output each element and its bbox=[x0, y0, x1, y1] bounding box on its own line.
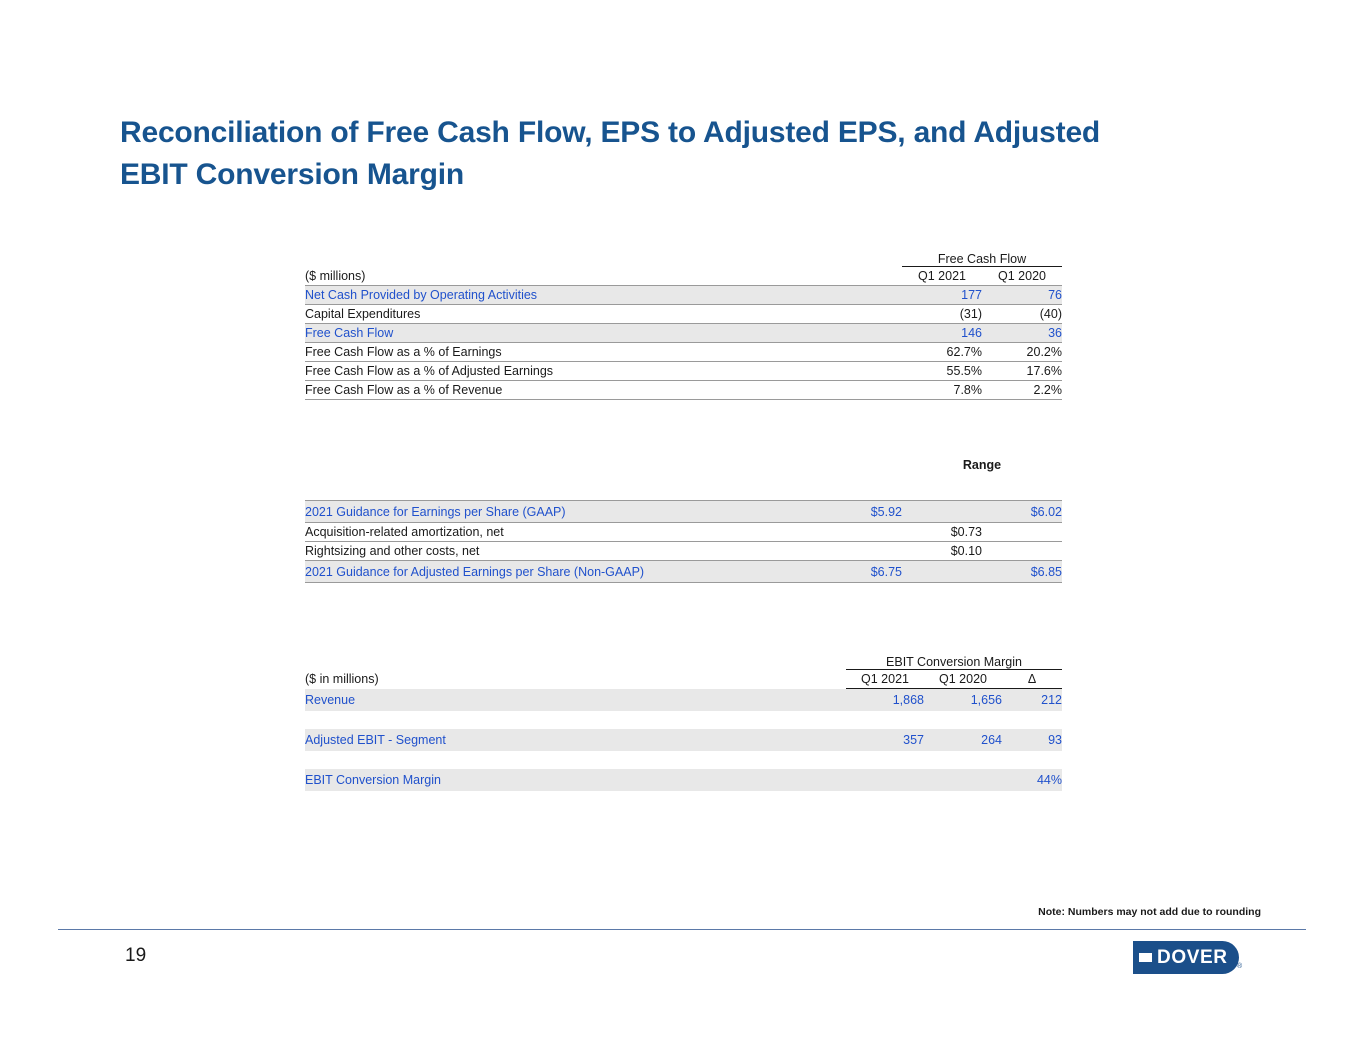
row-label: Capital Expenditures bbox=[305, 305, 902, 324]
table-row: Rightsizing and other costs, net $0.10 bbox=[305, 542, 1062, 561]
row-value-q1-2020: 76 bbox=[982, 286, 1062, 305]
dover-logo: DOVER ® bbox=[1133, 941, 1245, 974]
slide-canvas: { "slide": { "title": "Reconciliation of… bbox=[0, 0, 1365, 1055]
table-row: Free Cash Flow as a % of Earnings 62.7% … bbox=[305, 343, 1062, 362]
table-row: EBIT Conversion Margin 44% bbox=[305, 769, 1062, 791]
table-spacer-row bbox=[305, 751, 1062, 769]
group-header-range: Range bbox=[902, 458, 1062, 472]
row-value-q1-2020: 2.2% bbox=[982, 381, 1062, 400]
unit-label: ($ in millions) bbox=[305, 670, 846, 689]
row-value-q1-2021: 7.8% bbox=[902, 381, 982, 400]
column-header-q1-2020: Q1 2020 bbox=[982, 267, 1062, 286]
registered-trademark-icon: ® bbox=[1237, 963, 1242, 970]
row-value-q1-2021: 62.7% bbox=[902, 343, 982, 362]
row-value-low: $6.75 bbox=[822, 561, 902, 583]
logo-notch-icon bbox=[1139, 953, 1152, 962]
table-group-header-row: EBIT Conversion Margin bbox=[305, 655, 1062, 670]
row-value-q1-2020: 1,656 bbox=[924, 689, 1002, 711]
row-label: Free Cash Flow as a % of Revenue bbox=[305, 381, 902, 400]
row-value-q1-2020: 20.2% bbox=[982, 343, 1062, 362]
row-value-mid bbox=[902, 501, 982, 523]
row-value-delta: 212 bbox=[1002, 689, 1062, 711]
row-label: Free Cash Flow as a % of Earnings bbox=[305, 343, 902, 362]
table-column-header-row: ($ millions) Q1 2021 Q1 2020 bbox=[305, 267, 1062, 286]
ebit-conversion-margin-table: EBIT Conversion Margin ($ in millions) Q… bbox=[305, 655, 1062, 791]
row-value-high bbox=[982, 542, 1062, 561]
table-row: Acquisition-related amortization, net $0… bbox=[305, 523, 1062, 542]
table-row: Free Cash Flow as a % of Adjusted Earnin… bbox=[305, 362, 1062, 381]
footer-divider bbox=[58, 929, 1306, 930]
column-header-q1-2021: Q1 2021 bbox=[902, 267, 982, 286]
row-value-q1-2021: 1,868 bbox=[846, 689, 924, 711]
table-row: Free Cash Flow 146 36 bbox=[305, 324, 1062, 343]
row-value-high: $6.02 bbox=[982, 501, 1062, 523]
row-label: Free Cash Flow bbox=[305, 324, 902, 343]
group-header-free-cash-flow: Free Cash Flow bbox=[902, 252, 1062, 267]
table-row: Free Cash Flow as a % of Revenue 7.8% 2.… bbox=[305, 381, 1062, 400]
row-label: Rightsizing and other costs, net bbox=[305, 542, 822, 561]
row-label: Acquisition-related amortization, net bbox=[305, 523, 822, 542]
table-row: Capital Expenditures (31) (40) bbox=[305, 305, 1062, 324]
row-value-delta: 93 bbox=[1002, 729, 1062, 751]
table-column-header-row: ($ in millions) Q1 2021 Q1 2020 Δ bbox=[305, 670, 1062, 689]
table-row: Revenue 1,868 1,656 212 bbox=[305, 689, 1062, 711]
row-label: Adjusted EBIT - Segment bbox=[305, 729, 846, 751]
column-header-q1-2021: Q1 2021 bbox=[846, 670, 924, 689]
row-value-q1-2020: 36 bbox=[982, 324, 1062, 343]
row-value-q1-2021: 55.5% bbox=[902, 362, 982, 381]
table-row: 2021 Guidance for Earnings per Share (GA… bbox=[305, 501, 1062, 523]
page-title: Reconciliation of Free Cash Flow, EPS to… bbox=[120, 112, 1150, 196]
column-header-delta: Δ bbox=[1002, 670, 1062, 689]
row-value-q1-2021: 177 bbox=[902, 286, 982, 305]
free-cash-flow-table: Free Cash Flow ($ millions) Q1 2021 Q1 2… bbox=[305, 252, 1062, 400]
table-group-header-row: Free Cash Flow bbox=[305, 252, 1062, 267]
row-value-low bbox=[822, 523, 902, 542]
row-value-q1-2020 bbox=[924, 769, 1002, 791]
row-value-q1-2021 bbox=[846, 769, 924, 791]
row-value-mid: $0.10 bbox=[902, 542, 982, 561]
group-header-ebit-conversion-margin: EBIT Conversion Margin bbox=[846, 655, 1062, 670]
row-value-q1-2020: 264 bbox=[924, 729, 1002, 751]
row-value-q1-2021: 357 bbox=[846, 729, 924, 751]
page-number: 19 bbox=[125, 945, 146, 967]
row-label: 2021 Guidance for Adjusted Earnings per … bbox=[305, 561, 822, 583]
row-value-delta: 44% bbox=[1002, 769, 1062, 791]
row-label: Revenue bbox=[305, 689, 846, 711]
row-value-q1-2020: 17.6% bbox=[982, 362, 1062, 381]
row-value-mid bbox=[902, 561, 982, 583]
row-label: Net Cash Provided by Operating Activitie… bbox=[305, 286, 902, 305]
row-value-high bbox=[982, 523, 1062, 542]
row-value-low: $5.92 bbox=[822, 501, 902, 523]
table-row: Adjusted EBIT - Segment 357 264 93 bbox=[305, 729, 1062, 751]
row-value-mid: $0.73 bbox=[902, 523, 982, 542]
table-row: 2021 Guidance for Adjusted Earnings per … bbox=[305, 561, 1062, 583]
unit-label: ($ millions) bbox=[305, 267, 902, 286]
row-value-low bbox=[822, 542, 902, 561]
row-label: Free Cash Flow as a % of Adjusted Earnin… bbox=[305, 362, 902, 381]
logo-wordmark: DOVER bbox=[1157, 947, 1228, 969]
row-label: EBIT Conversion Margin bbox=[305, 769, 846, 791]
table-spacer-row bbox=[305, 711, 1062, 729]
row-value-q1-2020: (40) bbox=[982, 305, 1062, 324]
row-value-q1-2021: 146 bbox=[902, 324, 982, 343]
row-value-high: $6.85 bbox=[982, 561, 1062, 583]
table-row: Net Cash Provided by Operating Activitie… bbox=[305, 286, 1062, 305]
row-value-q1-2021: (31) bbox=[902, 305, 982, 324]
column-header-q1-2020: Q1 2020 bbox=[924, 670, 1002, 689]
eps-guidance-table: 2021 Guidance for Earnings per Share (GA… bbox=[305, 500, 1062, 583]
row-label: 2021 Guidance for Earnings per Share (GA… bbox=[305, 501, 822, 523]
footer-note: Note: Numbers may not add due to roundin… bbox=[1038, 906, 1261, 918]
